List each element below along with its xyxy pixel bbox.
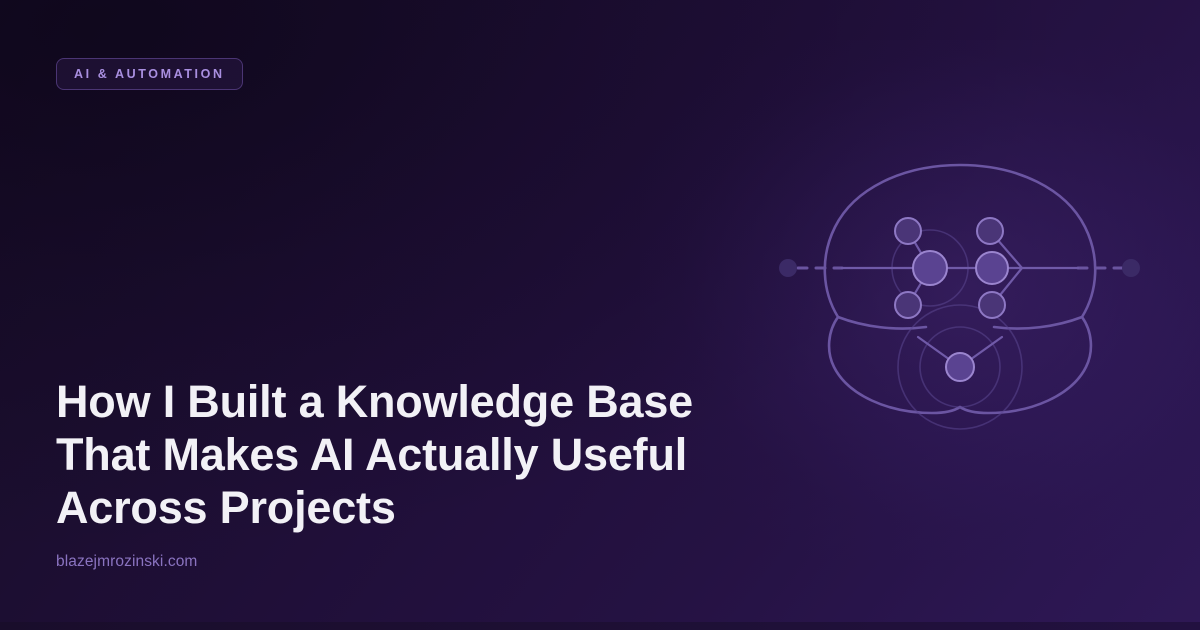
social-share-card: AI & AUTOMATION How I Built a Knowledge … bbox=[0, 0, 1200, 630]
site-domain: blazejmrozinski.com bbox=[56, 553, 197, 571]
page-title-line-2: That Makes AI Actually Useful bbox=[56, 428, 756, 481]
page-title: How I Built a Knowledge Base That Makes … bbox=[56, 375, 756, 534]
page-title-line-1: How I Built a Knowledge Base bbox=[56, 375, 756, 428]
category-badge-label: AI & AUTOMATION bbox=[74, 68, 225, 81]
page-title-line-3: Across Projects bbox=[56, 481, 756, 534]
background-gradient bbox=[0, 0, 1200, 630]
category-badge: AI & AUTOMATION bbox=[56, 58, 243, 90]
